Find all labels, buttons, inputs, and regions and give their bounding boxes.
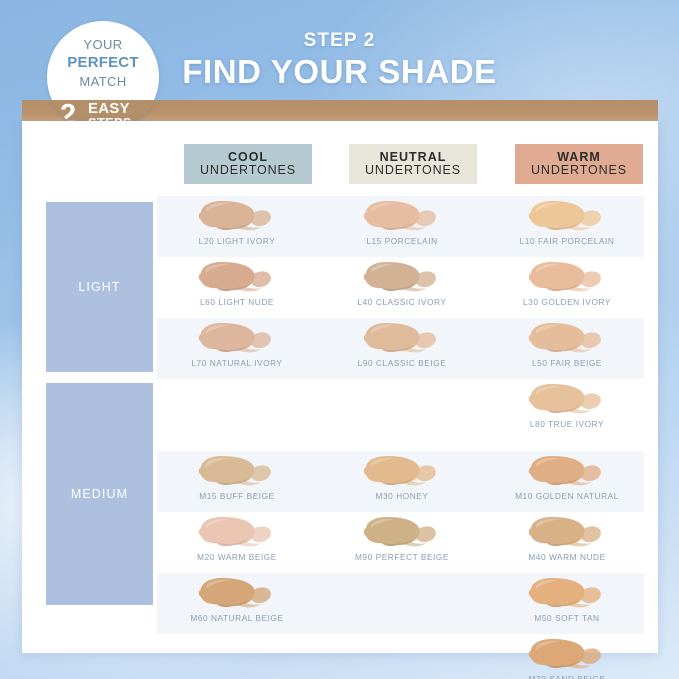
shade-cell[interactable]: L50 FAIR BEIGE xyxy=(487,318,647,379)
column-header-neutral: NEUTRAL UNDERTONES xyxy=(349,144,477,184)
shade-cell[interactable]: L30 GOLDEN IVORY xyxy=(487,257,647,318)
shade-cell[interactable]: M20 WARM BEIGE xyxy=(157,512,317,573)
table-row: L80 TRUE IVORY xyxy=(157,379,644,440)
shade-cell[interactable]: L15 PORCELAIN xyxy=(322,196,482,257)
shade-cell[interactable]: L90 CLASSIC BEIGE xyxy=(322,318,482,379)
shade-swatch-icon xyxy=(356,321,448,357)
shade-swatch-icon xyxy=(521,199,613,235)
shade-swatch-icon xyxy=(521,321,613,357)
shade-name-label: L50 FAIR BEIGE xyxy=(487,358,647,368)
shade-swatch-icon xyxy=(521,382,613,418)
shade-cell[interactable]: L10 FAIR PORCELAIN xyxy=(487,196,647,257)
shade-swatch-icon xyxy=(521,515,613,551)
row-header-light-label: LIGHT xyxy=(78,280,120,294)
shade-name-label: M90 PERFECT BEIGE xyxy=(322,552,482,562)
shade-cell[interactable]: M30 HONEY xyxy=(322,451,482,512)
shade-swatch-icon xyxy=(521,637,613,673)
perfect-match-badge: YOUR PERFECT MATCH 2 EASY STEPS xyxy=(47,21,159,133)
column-header-warm-subtitle: UNDERTONES xyxy=(531,164,627,177)
shade-name-label: M15 BUFF BEIGE xyxy=(157,491,317,501)
shade-swatch-icon xyxy=(191,515,283,551)
shade-cell[interactable]: M60 NATURAL BEIGE xyxy=(157,573,317,634)
shade-name-label: M40 WARM NUDE xyxy=(487,552,647,562)
table-row: L20 LIGHT IVORYL15 PORCELAINL10 FAIR POR… xyxy=(157,196,644,257)
shade-name-label: L70 NATURAL IVORY xyxy=(157,358,317,368)
shade-name-label: L15 PORCELAIN xyxy=(322,236,482,246)
shade-cell[interactable]: M10 GOLDEN NATURAL xyxy=(487,451,647,512)
shade-swatch-icon xyxy=(191,576,283,612)
shade-cell[interactable]: L60 LIGHT NUDE xyxy=(157,257,317,318)
shade-cell[interactable]: M90 PERFECT BEIGE xyxy=(322,512,482,573)
shade-swatch-icon xyxy=(191,321,283,357)
shade-name-label: M20 WARM BEIGE xyxy=(157,552,317,562)
shade-grid: L20 LIGHT IVORYL15 PORCELAINL10 FAIR POR… xyxy=(157,196,644,679)
badge-line-match: MATCH xyxy=(47,74,159,89)
section-gap xyxy=(157,440,644,451)
shade-swatch-icon xyxy=(521,576,613,612)
shade-name-label: M70 SAND BEIGE xyxy=(487,674,647,679)
shade-name-label: L90 CLASSIC BEIGE xyxy=(322,358,482,368)
shade-swatch-icon xyxy=(191,260,283,296)
shade-name-label: L60 LIGHT NUDE xyxy=(157,297,317,307)
table-row: L60 LIGHT NUDEL40 CLASSIC IVORYL30 GOLDE… xyxy=(157,257,644,318)
shade-swatch-icon xyxy=(356,515,448,551)
shade-cell[interactable]: M50 SOFT TAN xyxy=(487,573,647,634)
column-header-warm: WARM UNDERTONES xyxy=(515,144,643,184)
shade-name-label: M60 NATURAL BEIGE xyxy=(157,613,317,623)
shade-cell[interactable]: M15 BUFF BEIGE xyxy=(157,451,317,512)
table-row: M60 NATURAL BEIGEM50 SOFT TAN xyxy=(157,573,644,634)
shade-cell[interactable]: L80 TRUE IVORY xyxy=(487,379,647,440)
row-header-light: LIGHT xyxy=(46,202,153,372)
shade-swatch-icon xyxy=(356,199,448,235)
row-header-medium: MEDIUM xyxy=(46,383,153,605)
shade-name-label: L10 FAIR PORCELAIN xyxy=(487,236,647,246)
shade-name-label: L20 LIGHT IVORY xyxy=(157,236,317,246)
shade-cell[interactable]: L40 CLASSIC IVORY xyxy=(322,257,482,318)
shade-name-label: L40 CLASSIC IVORY xyxy=(322,297,482,307)
shade-name-label: M50 SOFT TAN xyxy=(487,613,647,623)
column-header-cool-subtitle: UNDERTONES xyxy=(200,164,296,177)
shade-swatch-icon xyxy=(191,199,283,235)
table-row: M20 WARM BEIGEM90 PERFECT BEIGEM40 WARM … xyxy=(157,512,644,573)
shade-cell[interactable]: L70 NATURAL IVORY xyxy=(157,318,317,379)
badge-line-perfect: PERFECT xyxy=(47,54,159,71)
shade-name-label: M30 HONEY xyxy=(322,491,482,501)
shade-name-label: L30 GOLDEN IVORY xyxy=(487,297,647,307)
shade-swatch-icon xyxy=(521,454,613,490)
table-row: L70 NATURAL IVORYL90 CLASSIC BEIGEL50 FA… xyxy=(157,318,644,379)
shade-cell[interactable]: M70 SAND BEIGE xyxy=(487,634,647,679)
column-header-neutral-subtitle: UNDERTONES xyxy=(365,164,461,177)
shade-swatch-icon xyxy=(521,260,613,296)
shade-cell[interactable]: M40 WARM NUDE xyxy=(487,512,647,573)
shade-name-label: M10 GOLDEN NATURAL xyxy=(487,491,647,501)
shade-name-label: L80 TRUE IVORY xyxy=(487,419,647,429)
badge-line-easy: EASY xyxy=(88,101,130,116)
shade-cell[interactable]: L20 LIGHT IVORY xyxy=(157,196,317,257)
shade-swatch-icon xyxy=(356,260,448,296)
badge-line-your: YOUR xyxy=(47,37,159,52)
column-header-cool: COOL UNDERTONES xyxy=(184,144,312,184)
shade-swatch-icon xyxy=(356,454,448,490)
row-header-medium-label: MEDIUM xyxy=(71,487,128,501)
table-row: M70 SAND BEIGE xyxy=(157,634,644,679)
shade-swatch-icon xyxy=(191,454,283,490)
table-row: M15 BUFF BEIGEM30 HONEYM10 GOLDEN NATURA… xyxy=(157,451,644,512)
